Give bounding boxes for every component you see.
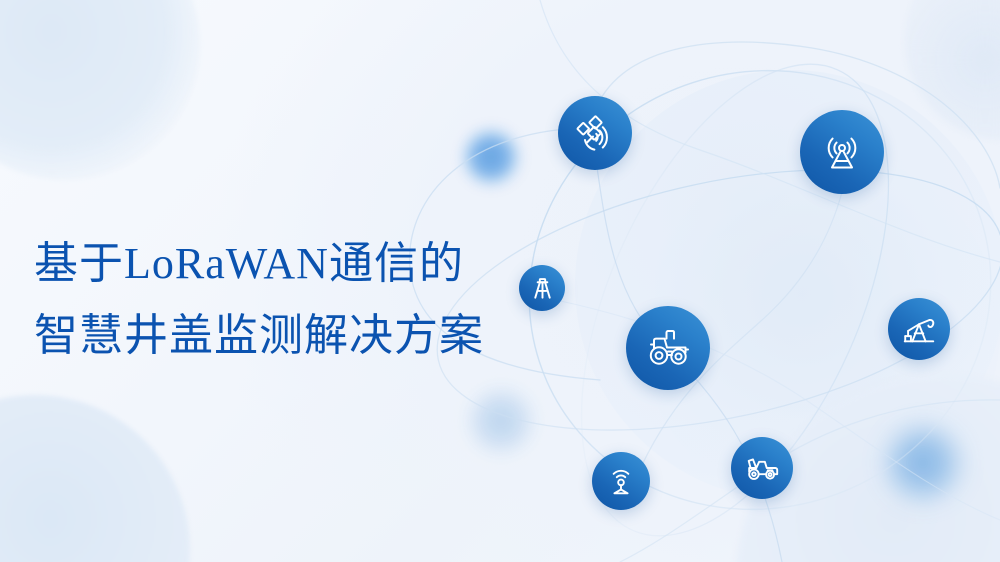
tractor-icon xyxy=(642,322,694,374)
title-line-1: 基于LoRaWAN通信的 xyxy=(34,228,554,300)
antenna-tower-icon xyxy=(817,127,867,177)
node-oil-pumpjack[interactable] xyxy=(888,298,950,360)
oil-pumpjack-icon xyxy=(900,310,938,348)
node-antenna-tower[interactable] xyxy=(800,110,884,194)
wireless-sensor-icon xyxy=(604,464,638,498)
background-blob-top-left xyxy=(0,0,200,180)
node-harvester[interactable] xyxy=(731,437,793,499)
title-line-2: 智慧井盖监测解决方案 xyxy=(34,300,554,372)
node-survey-tripod[interactable] xyxy=(519,265,565,311)
background-dot-accent xyxy=(462,128,520,186)
node-tractor[interactable] xyxy=(626,306,710,390)
node-wireless-sensor[interactable] xyxy=(592,452,650,510)
harvester-icon xyxy=(743,449,781,487)
background-blob-left xyxy=(0,395,190,562)
background-sphere xyxy=(575,70,1000,500)
slide-canvas: 基于LoRaWAN通信的 智慧井盖监测解决方案 xyxy=(0,0,1000,562)
satellite-icon xyxy=(572,110,618,156)
background-blob-top-right xyxy=(905,0,1000,140)
background-dot-soft xyxy=(466,386,536,456)
node-satellite[interactable] xyxy=(558,96,632,170)
slide-title: 基于LoRaWAN通信的 智慧井盖监测解决方案 xyxy=(34,228,554,372)
survey-tripod-icon xyxy=(529,275,556,302)
background-dot-bottom-right xyxy=(880,420,966,506)
